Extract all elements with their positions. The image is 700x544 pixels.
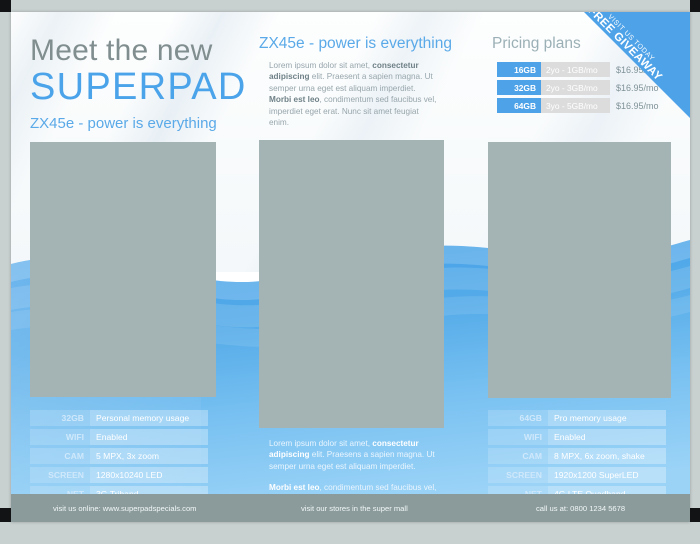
spec-key: SCREEN [488, 467, 548, 483]
spec-key: 32GB [30, 410, 90, 426]
pricing-price: $16.95/mo [610, 98, 673, 113]
image-placeholder-right [488, 142, 671, 398]
spec-row: SCREEN 1920x1200 SuperLED [488, 467, 666, 483]
pricing-row[interactable]: 16GB 2yo - 1GB/mo $16.95/mo [497, 62, 673, 77]
pricing-capacity: 32GB [497, 80, 541, 95]
spec-table-right: 64GB Pro memory usage WIFI Enabled CAM 8… [488, 410, 666, 505]
footer-website[interactable]: visit us online: www.superpadspecials.co… [53, 504, 197, 513]
pricing-plans-heading: Pricing plans [492, 35, 581, 53]
intro-text-a: Lorem ipsum dolor sit amet, [269, 61, 372, 70]
pricing-price: $16.95/mo [610, 80, 673, 95]
spec-value: 1920x1200 SuperLED [548, 467, 666, 483]
spec-value: Enabled [548, 429, 666, 445]
bottom-paragraph-1: Lorem ipsum dolor sit amet, consectetur … [269, 438, 441, 472]
image-placeholder-middle [259, 140, 444, 428]
spec-key: WIFI [488, 429, 548, 445]
footer-stores: visit our stores in the super mall [301, 504, 408, 513]
page-edge-marker-top-right [690, 0, 700, 12]
spec-key: WIFI [30, 429, 90, 445]
spec-row: WIFI Enabled [30, 429, 208, 445]
spec-row: CAM 8 MPX, 6x zoom, shake [488, 448, 666, 464]
pricing-row[interactable]: 64GB 3yo - 5GB/mo $16.95/mo [497, 98, 673, 113]
spec-value: 5 MPX, 3x zoom [90, 448, 208, 464]
bottom-text-bold-2: Morbi est leo [269, 483, 320, 492]
middle-column-heading: ZX45e - power is everything [259, 35, 452, 53]
spec-key: SCREEN [30, 467, 90, 483]
pricing-capacity: 16GB [497, 62, 541, 77]
page-edge-marker-bottom-left [0, 508, 11, 522]
intro-paragraph: Lorem ipsum dolor sit amet, consectetur … [269, 60, 437, 128]
page-edge-marker-top-left [0, 0, 11, 12]
pricing-table: 16GB 2yo - 1GB/mo $16.95/mo 32GB 2yo - 3… [497, 62, 673, 116]
footer-phone[interactable]: call us at: 0800 1234 5678 [536, 504, 625, 513]
flyer-sheet: Meet the new SUPERPAD ZX45e - power is e… [11, 12, 690, 522]
spec-value: 1280x10240 LED [90, 467, 208, 483]
spec-row: WIFI Enabled [488, 429, 666, 445]
image-placeholder-left [30, 142, 216, 397]
spec-key: 64GB [488, 410, 548, 426]
spec-value: Personal memory usage [90, 410, 208, 426]
page-eyebrow: Meet the new [30, 34, 213, 68]
pricing-price: $16.95/mo [610, 62, 673, 77]
pricing-capacity: 64GB [497, 98, 541, 113]
intro-text-bold-2: Morbi est leo [269, 95, 320, 104]
spec-row: 64GB Pro memory usage [488, 410, 666, 426]
page-edge-marker-bottom-right [690, 508, 700, 522]
pricing-row[interactable]: 32GB 2yo - 3GB/mo $16.95/mo [497, 80, 673, 95]
flyer-page: Meet the new SUPERPAD ZX45e - power is e… [0, 0, 700, 544]
spec-value: Enabled [90, 429, 208, 445]
spec-key: CAM [30, 448, 90, 464]
spec-row: 32GB Personal memory usage [30, 410, 208, 426]
pricing-plan: 2yo - 3GB/mo [541, 80, 610, 95]
left-column-tagline: ZX45e - power is everything [30, 115, 217, 132]
pricing-plan: 2yo - 1GB/mo [541, 62, 610, 77]
spec-value: Pro memory usage [548, 410, 666, 426]
spec-value: 8 MPX, 6x zoom, shake [548, 448, 666, 464]
bottom-text-a: Lorem ipsum dolor sit amet, [269, 439, 372, 448]
footer-bar: visit us online: www.superpadspecials.co… [11, 494, 690, 522]
spec-table-left: 32GB Personal memory usage WIFI Enabled … [30, 410, 208, 505]
pricing-plan: 3yo - 5GB/mo [541, 98, 610, 113]
spec-key: CAM [488, 448, 548, 464]
page-title: SUPERPAD [30, 66, 247, 108]
spec-row: CAM 5 MPX, 3x zoom [30, 448, 208, 464]
spec-row: SCREEN 1280x10240 LED [30, 467, 208, 483]
